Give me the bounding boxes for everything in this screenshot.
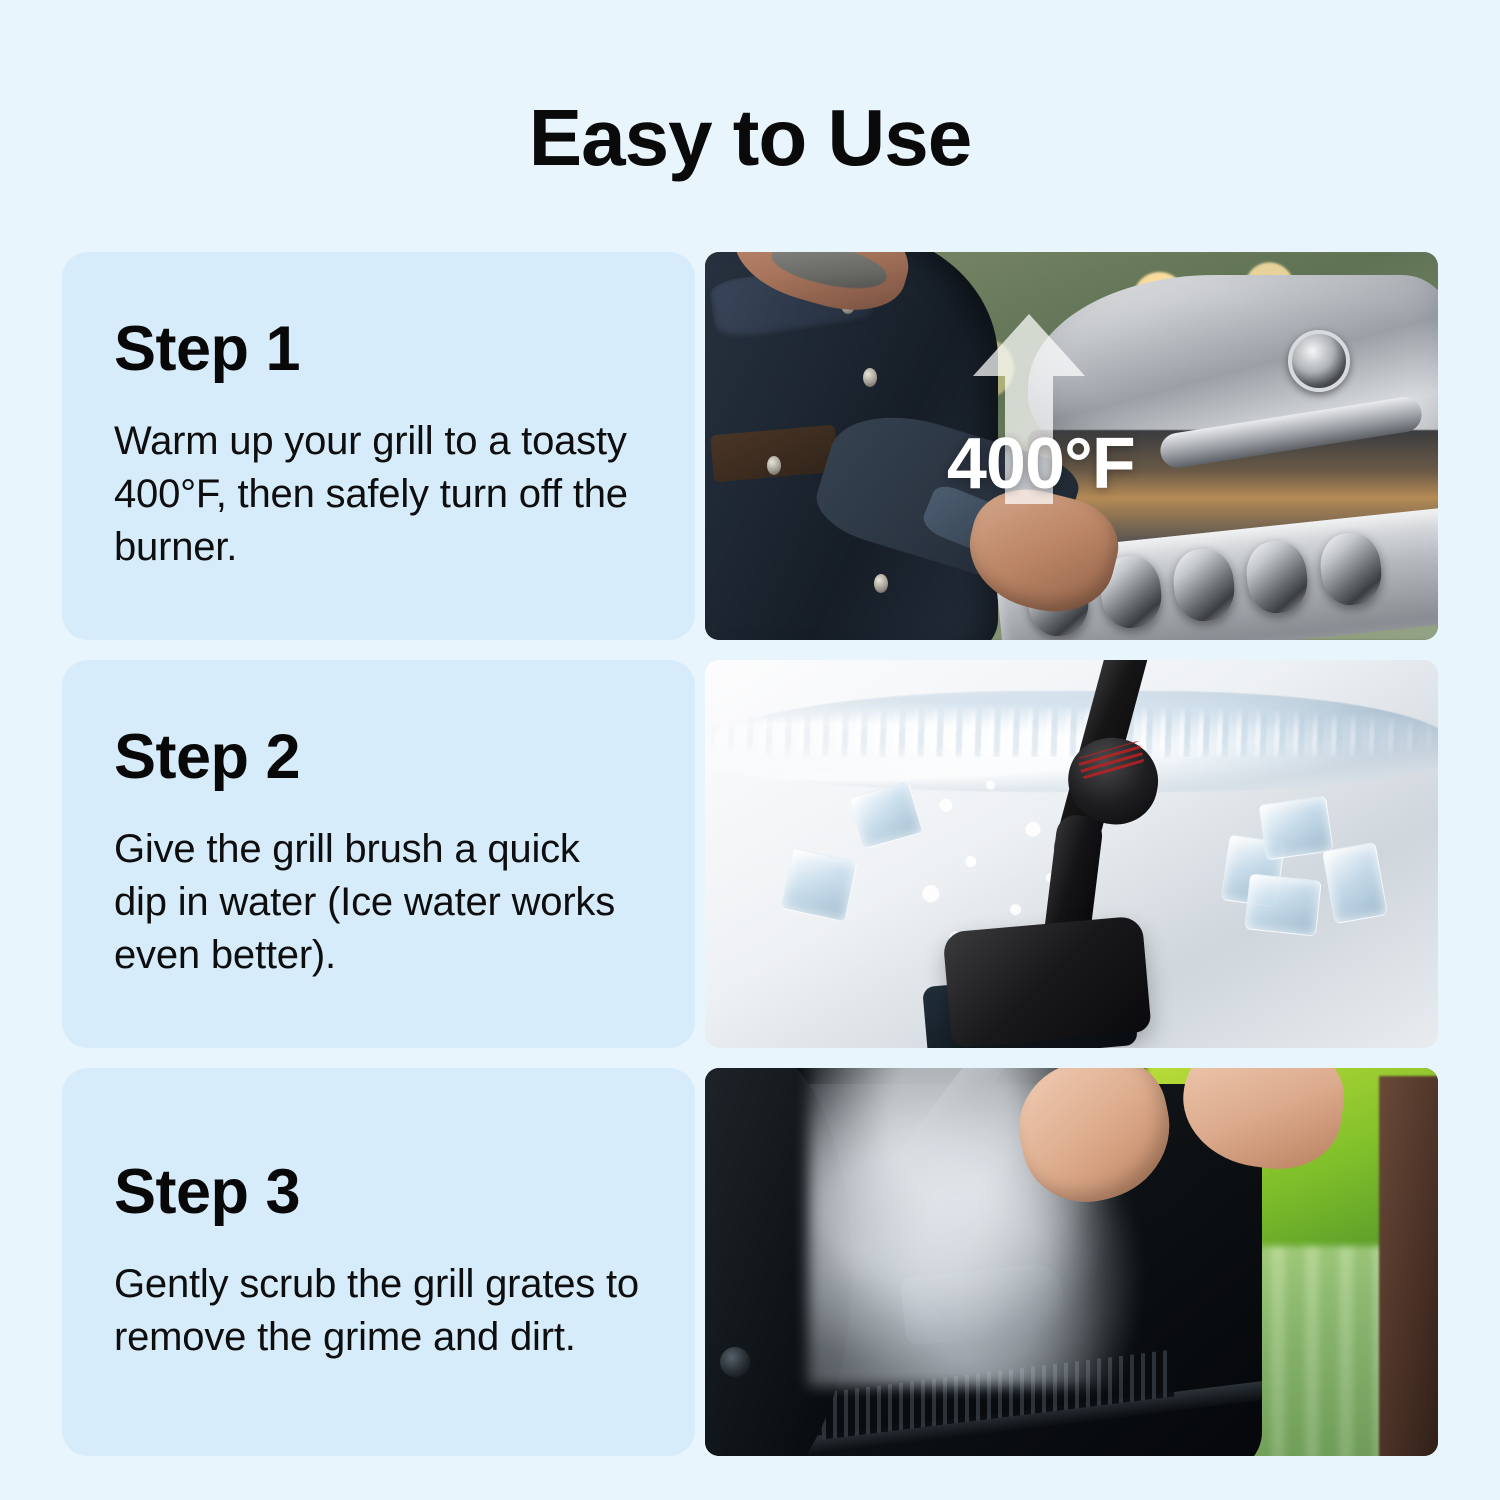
- step-text-card-3: Step 3 Gently scrub the grill grates to …: [62, 1068, 695, 1456]
- steps-list: Step 1 Warm up your grill to a toasty 40…: [62, 252, 1438, 1456]
- step-image-3: [705, 1068, 1438, 1456]
- step-heading-2: Step 2: [114, 726, 643, 789]
- leather-strap: [1379, 1076, 1438, 1456]
- ice-cube: [1245, 874, 1322, 937]
- grill-lid-knob: [720, 1347, 750, 1377]
- jacket-button: [874, 574, 888, 593]
- step-body-1: Warm up your grill to a toasty 400°F, th…: [114, 415, 643, 573]
- brush-head: [942, 915, 1151, 1048]
- page-title: Easy to Use: [0, 96, 1500, 180]
- step-heading-3: Step 3: [114, 1161, 643, 1224]
- jacket-button: [767, 456, 781, 475]
- step-row-2: Step 2 Give the grill brush a quick dip …: [62, 660, 1438, 1048]
- ice-cube: [780, 848, 857, 922]
- step-text-card-2: Step 2 Give the grill brush a quick dip …: [62, 660, 695, 1048]
- step-image-1: 400°F: [705, 252, 1438, 640]
- step-row-3: Step 3 Gently scrub the grill grates to …: [62, 1068, 1438, 1456]
- brush-in-water-photo: [705, 660, 1438, 1048]
- step-body-2: Give the grill brush a quick dip in wate…: [114, 823, 643, 981]
- step-body-3: Gently scrub the grill grates to remove …: [114, 1258, 643, 1364]
- step-row-1: Step 1 Warm up your grill to a toasty 40…: [62, 252, 1438, 640]
- step-text-card-1: Step 1 Warm up your grill to a toasty 40…: [62, 252, 695, 640]
- easy-to-use-infographic: Easy to Use Step 1 Warm up your grill to…: [0, 0, 1500, 1500]
- step-image-2: [705, 660, 1438, 1048]
- step-heading-1: Step 1: [114, 318, 643, 381]
- scrubbing-grates-photo: [705, 1068, 1438, 1456]
- grill-preheat-photo: 400°F: [705, 252, 1438, 640]
- jacket-button: [863, 368, 877, 387]
- water-splash: [705, 707, 1438, 757]
- ice-cube: [1322, 842, 1388, 924]
- grill-temperature-gauge: [1288, 330, 1350, 392]
- ice-cube: [1259, 795, 1334, 860]
- temperature-overlay-label: 400°F: [947, 423, 1135, 505]
